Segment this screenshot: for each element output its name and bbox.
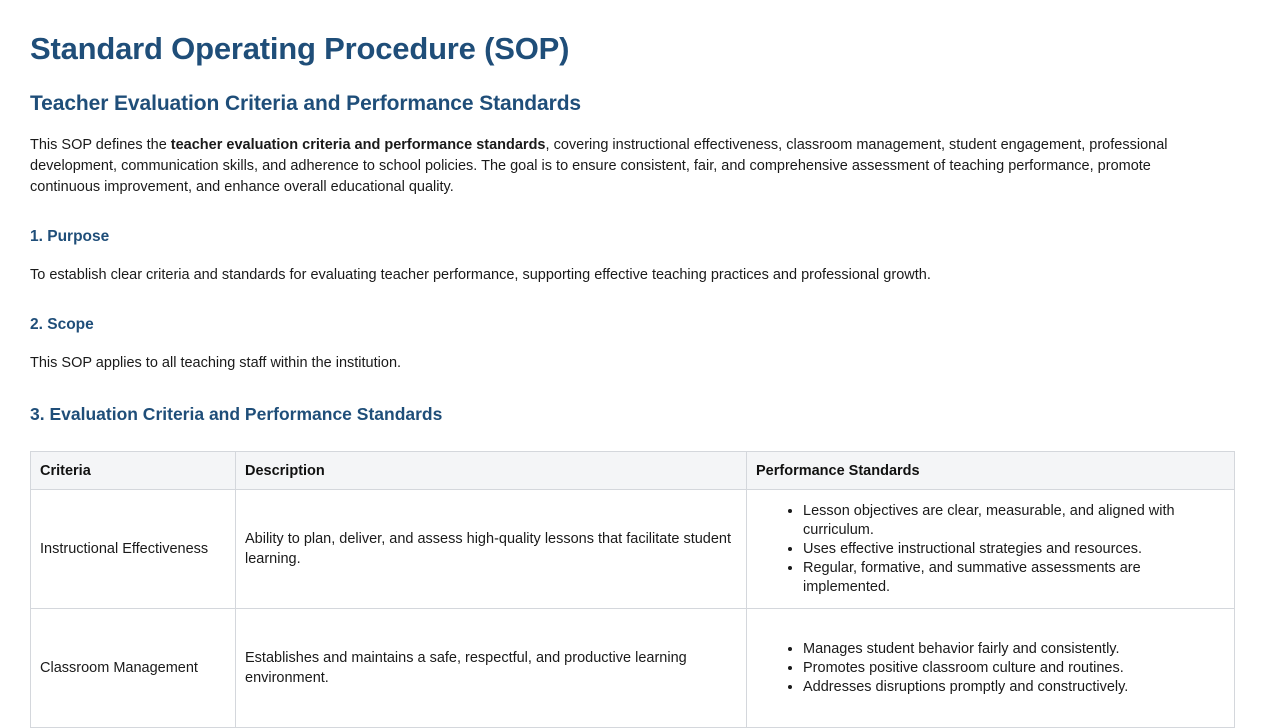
cell-description: Establishes and maintains a safe, respec… [236,609,747,728]
section-heading-scope: 2. Scope [30,285,1233,335]
column-header-criteria: Criteria [31,452,236,490]
standards-list: Manages student behavior fairly and cons… [747,640,1225,697]
list-item: Lesson objectives are clear, measurable,… [803,502,1225,540]
section-heading-evaluation-criteria: 3. Evaluation Criteria and Performance S… [30,373,1233,425]
intro-text-bold: teacher evaluation criteria and performa… [171,137,546,153]
evaluation-criteria-table: Criteria Description Performance Standar… [30,451,1235,728]
cell-criteria: Classroom Management [31,609,236,728]
list-item: Promotes positive classroom culture and … [803,659,1225,678]
table-body: Instructional Effectiveness Ability to p… [31,490,1235,728]
section-body-scope: This SOP applies to all teaching staff w… [30,335,1233,374]
page-title: Standard Operating Procedure (SOP) [30,0,1233,67]
table-row: Instructional Effectiveness Ability to p… [31,490,1235,609]
cell-description: Ability to plan, deliver, and assess hig… [236,490,747,609]
cell-performance-standards: Manages student behavior fairly and cons… [747,609,1235,728]
list-item: Regular, formative, and summative assess… [803,559,1225,597]
intro-text-part1: This SOP defines the [30,137,171,153]
cell-criteria: Instructional Effectiveness [31,490,236,609]
table-row: Classroom Management Establishes and mai… [31,609,1235,728]
cell-performance-standards: Lesson objectives are clear, measurable,… [747,490,1235,609]
column-header-description: Description [236,452,747,490]
page-subtitle: Teacher Evaluation Criteria and Performa… [30,67,1233,116]
list-item: Manages student behavior fairly and cons… [803,640,1225,659]
table-header: Criteria Description Performance Standar… [31,452,1235,490]
section-heading-purpose: 1. Purpose [30,197,1233,247]
column-header-performance-standards: Performance Standards [747,452,1235,490]
intro-paragraph: This SOP defines the teacher evaluation … [30,116,1205,197]
section-body-purpose: To establish clear criteria and standard… [30,247,1233,286]
list-item: Uses effective instructional strategies … [803,540,1225,559]
table-header-row: Criteria Description Performance Standar… [31,452,1235,490]
standards-list: Lesson objectives are clear, measurable,… [747,502,1225,598]
document-page: Standard Operating Procedure (SOP) Teach… [0,0,1263,728]
